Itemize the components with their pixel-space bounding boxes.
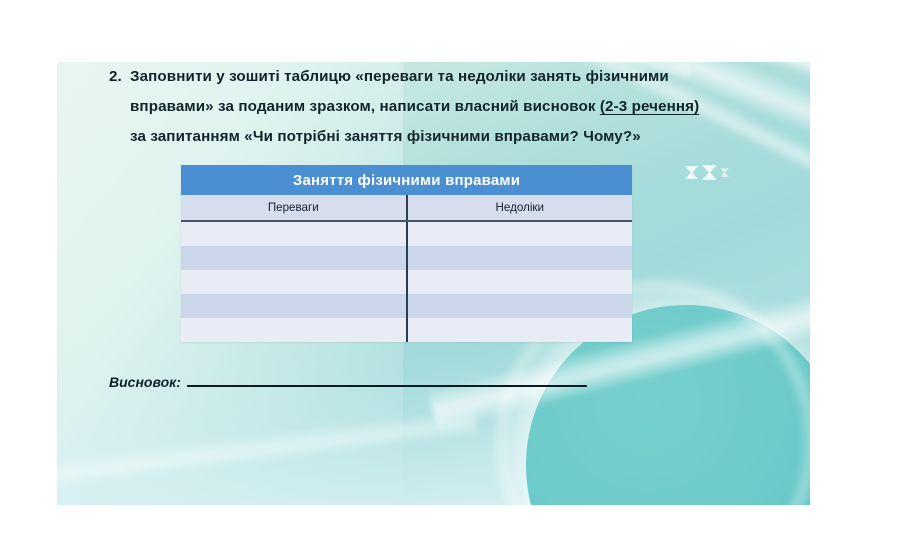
cell-disadvantages[interactable] (407, 246, 633, 270)
task-line-3: за запитанням «Чи потрібні заняття фізич… (109, 122, 759, 152)
cell-disadvantages[interactable] (407, 221, 633, 246)
column-header-advantages: Переваги (181, 195, 407, 221)
table-row (181, 294, 632, 318)
cell-advantages[interactable] (181, 246, 407, 270)
slide-canvas: 2. Заповнити у зошиті таблицю «переваги … (57, 62, 810, 505)
table-body (181, 221, 632, 342)
task-line-2-text: вправами» за поданим зразком, написати в… (130, 92, 759, 122)
task-line-2-underlined: (2-3 речення) (600, 98, 699, 115)
table-column-header-row: Переваги Недоліки (181, 195, 632, 221)
table-row (181, 246, 632, 270)
decorative-bowtie-icon (685, 166, 698, 179)
decorative-bowtie-icon (720, 168, 729, 177)
cell-advantages[interactable] (181, 270, 407, 294)
cell-advantages[interactable] (181, 294, 407, 318)
table-row (181, 270, 632, 294)
task-instruction-block: 2. Заповнити у зошиті таблицю «переваги … (109, 62, 759, 152)
task-line-1: 2. Заповнити у зошиті таблицю «переваги … (109, 62, 759, 92)
task-line-1-text: Заповнити у зошиті таблицю «переваги та … (130, 62, 759, 92)
conclusion-label: Висновок: (109, 374, 181, 390)
table-row (181, 318, 632, 342)
decorative-bowtie-icon (702, 165, 717, 180)
decorative-swirl-band-icon (57, 407, 477, 493)
task-number: 2. (109, 62, 130, 92)
table-row (181, 221, 632, 246)
task-line-3-text: за запитанням «Чи потрібні заняття фізич… (130, 122, 759, 152)
table-title: Заняття фізичними вправами (181, 165, 632, 195)
task-line-2: вправами» за поданим зразком, написати в… (109, 92, 759, 122)
column-header-disadvantages: Недоліки (407, 195, 633, 221)
table-head: Заняття фізичними вправами Переваги Недо… (181, 165, 632, 221)
task-line-2-plain: вправами» за поданим зразком, написати в… (130, 98, 596, 115)
screenshot-canvas: 2. Заповнити у зошиті таблицю «переваги … (0, 0, 905, 536)
cell-advantages[interactable] (181, 318, 407, 342)
cell-disadvantages[interactable] (407, 294, 633, 318)
cell-advantages[interactable] (181, 221, 407, 246)
conclusion-block: Висновок: (109, 374, 709, 390)
table-title-row: Заняття фізичними вправами (181, 165, 632, 195)
exercises-table: Заняття фізичними вправами Переваги Недо… (181, 165, 632, 342)
cell-disadvantages[interactable] (407, 318, 633, 342)
cell-disadvantages[interactable] (407, 270, 633, 294)
conclusion-answer-line[interactable] (187, 385, 587, 387)
